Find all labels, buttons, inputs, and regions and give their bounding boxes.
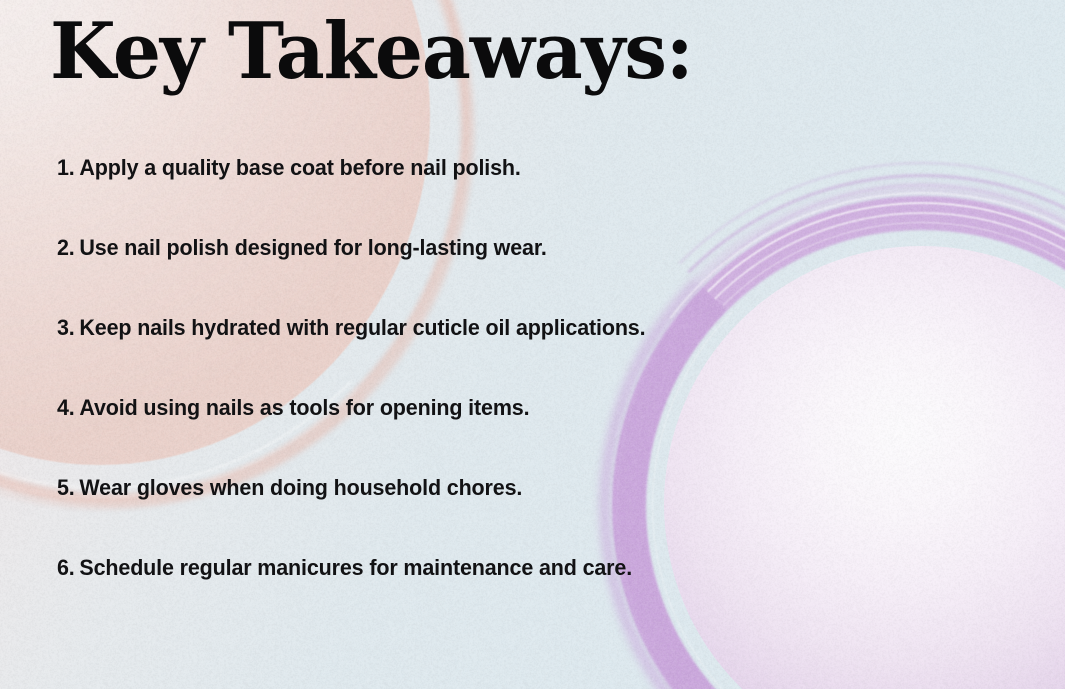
list-item-number: 1. <box>57 155 75 180</box>
list-item-text: Avoid using nails as tools for opening i… <box>79 395 529 420</box>
list-item-text: Use nail polish designed for long-lastin… <box>79 235 546 260</box>
list-item-text: Apply a quality base coat before nail po… <box>79 155 520 180</box>
list-item: 1.Apply a quality base coat before nail … <box>57 152 974 232</box>
list-item-number: 2. <box>57 235 75 260</box>
list-item: 3.Keep nails hydrated with regular cutic… <box>57 312 974 392</box>
takeaways-list: 1.Apply a quality base coat before nail … <box>57 152 1017 632</box>
list-item: 4.Avoid using nails as tools for opening… <box>57 392 974 472</box>
list-item-number: 3. <box>57 315 75 340</box>
list-item: 2.Use nail polish designed for long-last… <box>57 232 974 312</box>
list-item-number: 5. <box>57 475 75 500</box>
list-item-text: Schedule regular manicures for maintenan… <box>79 555 632 580</box>
key-takeaways-poster: Key Takeaways: 1.Apply a quality base co… <box>0 0 1065 689</box>
list-item-text: Keep nails hydrated with regular cuticle… <box>79 315 645 340</box>
list-item: 5.Wear gloves when doing household chore… <box>57 472 974 552</box>
list-item-number: 4. <box>57 395 75 420</box>
list-item-number: 6. <box>57 555 75 580</box>
page-title: Key Takeaways: <box>50 10 693 94</box>
list-item: 6.Schedule regular manicures for mainten… <box>57 552 974 632</box>
list-item-text: Wear gloves when doing household chores. <box>79 475 522 500</box>
